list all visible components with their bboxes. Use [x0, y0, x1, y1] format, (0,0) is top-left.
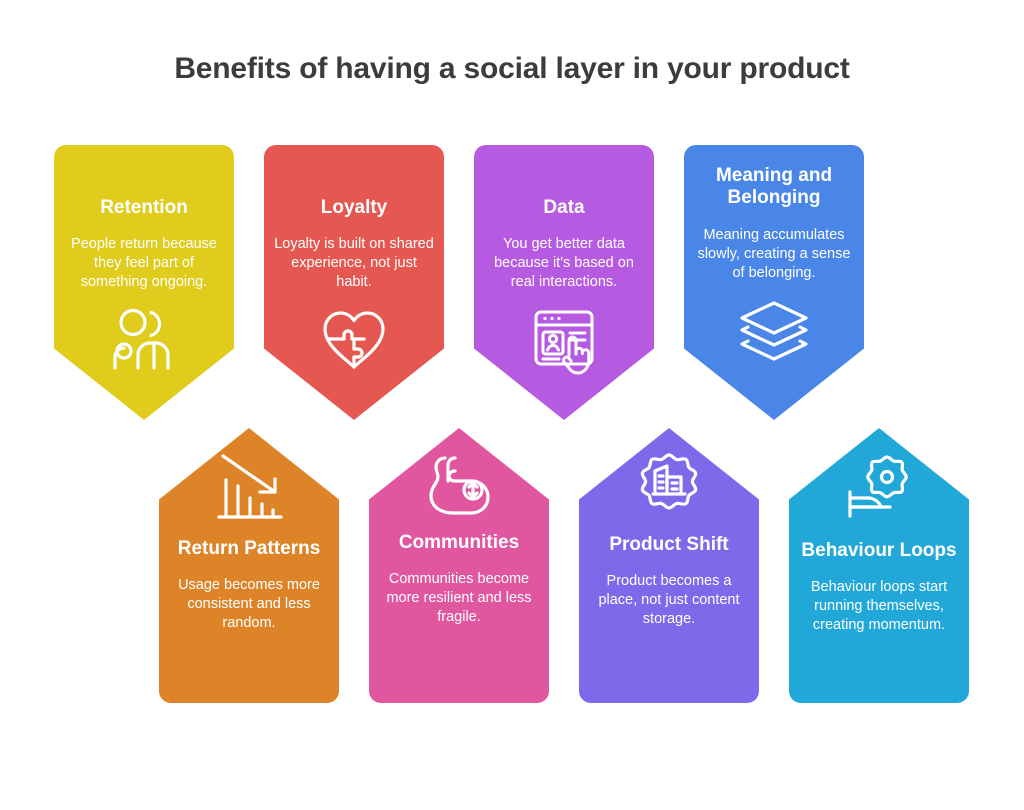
card-description: Loyalty is built on shared experience, n… — [274, 219, 434, 292]
card-title: Retention — [100, 145, 188, 219]
flexed-bicep-icon — [423, 452, 495, 516]
benefit-card-behaviour-loops[interactable]: Behaviour Loops Behaviour loops start ru… — [789, 428, 969, 703]
profile-card-tap-icon — [529, 308, 599, 378]
benefit-card-return-patterns[interactable]: Return Patterns Usage becomes more consi… — [159, 428, 339, 703]
card-description: Usage becomes more consistent and less r… — [169, 560, 329, 633]
card-description: People return because they feel part of … — [64, 219, 224, 292]
infographic-canvas: Benefits of having a social layer in you… — [0, 0, 1024, 810]
bar-chart-down-arrow-icon — [213, 452, 285, 522]
gear-bed-habit-icon — [843, 452, 915, 524]
benefit-card-data[interactable]: Data You get better data because it's ba… — [474, 145, 654, 420]
card-title: Data — [543, 145, 584, 219]
card-title: Product Shift — [609, 518, 728, 556]
card-title: Loyalty — [321, 145, 388, 219]
card-description: You get better data because it's based o… — [484, 219, 644, 292]
page-title: Benefits of having a social layer in you… — [0, 52, 1024, 86]
card-description: Product becomes a place, not just conten… — [589, 556, 749, 629]
benefit-card-retention[interactable]: Retention People return because they fee… — [54, 145, 234, 420]
card-title: Meaning and Belonging — [694, 145, 854, 210]
two-people-icon — [106, 308, 182, 370]
badge-building-icon — [634, 452, 704, 518]
card-description: Meaning accumulates slowly, creating a s… — [694, 210, 854, 283]
layers-icon — [736, 299, 812, 361]
benefit-card-meaning-and-belonging[interactable]: Meaning and Belonging Meaning accumulate… — [684, 145, 864, 420]
card-title: Behaviour Loops — [801, 524, 956, 562]
heart-puzzle-icon — [319, 308, 389, 372]
card-title: Return Patterns — [178, 522, 321, 560]
benefit-card-product-shift[interactable]: Product Shift Product becomes a place, n… — [579, 428, 759, 703]
card-description: Communities become more resilient and le… — [379, 554, 539, 627]
card-description: Behaviour loops start running themselves… — [799, 562, 959, 635]
benefit-card-loyalty[interactable]: Loyalty Loyalty is built on shared exper… — [264, 145, 444, 420]
card-title: Communities — [399, 516, 519, 554]
benefit-card-communities[interactable]: Communities Communities become more resi… — [369, 428, 549, 703]
